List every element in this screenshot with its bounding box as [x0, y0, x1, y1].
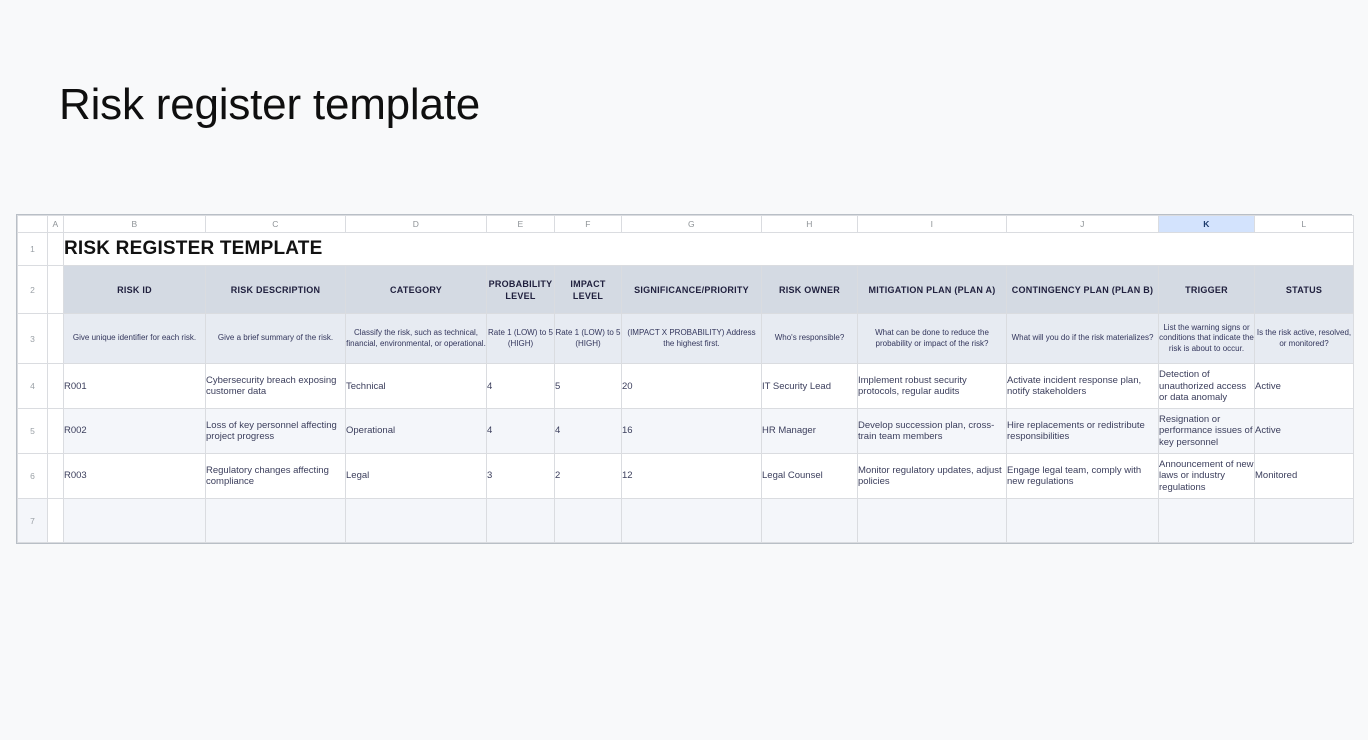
table-row: 5 R002 Loss of key personnel affecting p…	[18, 409, 1354, 454]
banner-title[interactable]: RISK REGISTER TEMPLATE	[64, 232, 1354, 265]
cell-risk-id[interactable]: R003	[64, 454, 206, 499]
cell-status[interactable]: Active	[1255, 409, 1354, 454]
cell-impact-level[interactable]	[555, 499, 622, 543]
spreadsheet-grid[interactable]: A B C D E F G H I J K L 1 RISK REGISTER …	[16, 214, 1352, 544]
table-row: 2 RISK ID RISK DESCRIPTION CATEGORY PROB…	[18, 266, 1354, 314]
cell-risk-owner[interactable]: HR Manager	[762, 409, 858, 454]
cell-a3[interactable]	[48, 314, 64, 364]
header-probability-level[interactable]: PROBABILITY LEVEL	[487, 266, 555, 314]
table-row: 3 Give unique identifier for each risk. …	[18, 314, 1354, 364]
cell-risk-owner[interactable]: IT Security Lead	[762, 364, 858, 409]
row-header-4[interactable]: 4	[18, 364, 48, 409]
instruction-mitigation-plan[interactable]: What can be done to reduce the probabili…	[858, 314, 1007, 364]
cell-contingency-plan[interactable]	[1007, 499, 1159, 543]
cell-risk-owner[interactable]	[762, 499, 858, 543]
column-header-row: A B C D E F G H I J K L	[18, 216, 1354, 233]
row-header-6[interactable]: 6	[18, 454, 48, 499]
cell-mitigation-plan[interactable]: Implement robust security protocols, reg…	[858, 364, 1007, 409]
cell-risk-description[interactable]: Regulatory changes affecting compliance	[206, 454, 346, 499]
instruction-significance-priority[interactable]: (IMPACT X PROBABILITY) Address the highe…	[622, 314, 762, 364]
header-risk-id[interactable]: RISK ID	[64, 266, 206, 314]
table-row: 1 RISK REGISTER TEMPLATE	[18, 232, 1354, 265]
header-risk-description[interactable]: RISK DESCRIPTION	[206, 266, 346, 314]
column-header-j[interactable]: J	[1007, 216, 1159, 233]
cell-risk-id[interactable]: R002	[64, 409, 206, 454]
cell-risk-id[interactable]: R001	[64, 364, 206, 409]
cell-a5[interactable]	[48, 409, 64, 454]
slide-canvas: Risk register template A	[0, 0, 1368, 740]
cell-probability-level[interactable]: 4	[487, 364, 555, 409]
cell-category[interactable]: Technical	[346, 364, 487, 409]
cell-contingency-plan[interactable]: Activate incident response plan, notify …	[1007, 364, 1159, 409]
cell-significance-priority[interactable]: 12	[622, 454, 762, 499]
instruction-category[interactable]: Classify the risk, such as technical, fi…	[346, 314, 487, 364]
header-contingency-plan[interactable]: CONTINGENCY PLAN (PLAN B)	[1007, 266, 1159, 314]
cell-a1[interactable]	[48, 232, 64, 265]
cell-status[interactable]: Monitored	[1255, 454, 1354, 499]
instruction-probability-level[interactable]: Rate 1 (LOW) to 5 (HIGH)	[487, 314, 555, 364]
cell-risk-description[interactable]: Cybersecurity breach exposing customer d…	[206, 364, 346, 409]
cell-risk-owner[interactable]: Legal Counsel	[762, 454, 858, 499]
cell-a7[interactable]	[48, 499, 64, 543]
cell-category[interactable]: Operational	[346, 409, 487, 454]
page-title: Risk register template	[59, 78, 480, 132]
cell-a4[interactable]	[48, 364, 64, 409]
column-header-b[interactable]: B	[64, 216, 206, 233]
instruction-contingency-plan[interactable]: What will you do if the risk materialize…	[1007, 314, 1159, 364]
select-all-corner[interactable]	[18, 216, 48, 233]
cell-significance-priority[interactable]	[622, 499, 762, 543]
cell-category[interactable]	[346, 499, 487, 543]
cell-impact-level[interactable]: 5	[555, 364, 622, 409]
table-row: 4 R001 Cybersecurity breach exposing cus…	[18, 364, 1354, 409]
column-header-f[interactable]: F	[555, 216, 622, 233]
header-status[interactable]: STATUS	[1255, 266, 1354, 314]
cell-mitigation-plan[interactable]: Monitor regulatory updates, adjust polic…	[858, 454, 1007, 499]
cell-mitigation-plan[interactable]: Develop succession plan, cross-train tea…	[858, 409, 1007, 454]
instruction-risk-id[interactable]: Give unique identifier for each risk.	[64, 314, 206, 364]
instruction-trigger[interactable]: List the warning signs or conditions tha…	[1159, 314, 1255, 364]
cell-trigger[interactable]: Announcement of new laws or industry reg…	[1159, 454, 1255, 499]
risk-register-table: A B C D E F G H I J K L 1 RISK REGISTER …	[17, 215, 1354, 543]
cell-trigger[interactable]: Detection of unauthorized access or data…	[1159, 364, 1255, 409]
header-category[interactable]: CATEGORY	[346, 266, 487, 314]
table-row: 6 R003 Regulatory changes affecting comp…	[18, 454, 1354, 499]
cell-contingency-plan[interactable]: Hire replacements or redistribute respon…	[1007, 409, 1159, 454]
row-header-3[interactable]: 3	[18, 314, 48, 364]
cell-significance-priority[interactable]: 20	[622, 364, 762, 409]
cell-trigger[interactable]: Resignation or performance issues of key…	[1159, 409, 1255, 454]
header-impact-level[interactable]: IMPACT LEVEL	[555, 266, 622, 314]
cell-probability-level[interactable]: 3	[487, 454, 555, 499]
row-header-5[interactable]: 5	[18, 409, 48, 454]
cell-risk-description[interactable]: Loss of key personnel affecting project …	[206, 409, 346, 454]
instruction-status[interactable]: Is the risk active, resolved, or monitor…	[1255, 314, 1354, 364]
column-header-c[interactable]: C	[206, 216, 346, 233]
instruction-risk-owner[interactable]: Who's responsible?	[762, 314, 858, 364]
cell-risk-description[interactable]	[206, 499, 346, 543]
column-header-h[interactable]: H	[762, 216, 858, 233]
instruction-risk-description[interactable]: Give a brief summary of the risk.	[206, 314, 346, 364]
cell-status[interactable]: Active	[1255, 364, 1354, 409]
cell-risk-id[interactable]	[64, 499, 206, 543]
column-header-l[interactable]: L	[1255, 216, 1354, 233]
column-header-e[interactable]: E	[487, 216, 555, 233]
table-row: 7	[18, 499, 1354, 543]
column-header-g[interactable]: G	[622, 216, 762, 233]
row-header-7[interactable]: 7	[18, 499, 48, 543]
column-header-d[interactable]: D	[346, 216, 487, 233]
header-trigger[interactable]: TRIGGER	[1159, 266, 1255, 314]
cell-impact-level[interactable]: 4	[555, 409, 622, 454]
cell-probability-level[interactable]: 4	[487, 409, 555, 454]
column-header-k[interactable]: K	[1159, 216, 1255, 233]
header-significance-priority[interactable]: SIGNIFICANCE/PRIORITY	[622, 266, 762, 314]
column-header-a[interactable]: A	[48, 216, 64, 233]
cell-probability-level[interactable]	[487, 499, 555, 543]
row-header-1[interactable]: 1	[18, 232, 48, 265]
cell-significance-priority[interactable]: 16	[622, 409, 762, 454]
header-risk-owner[interactable]: RISK OWNER	[762, 266, 858, 314]
cell-contingency-plan[interactable]: Engage legal team, comply with new regul…	[1007, 454, 1159, 499]
row-header-2[interactable]: 2	[18, 266, 48, 314]
cell-trigger[interactable]	[1159, 499, 1255, 543]
cell-a2[interactable]	[48, 266, 64, 314]
column-header-i[interactable]: I	[858, 216, 1007, 233]
cell-impact-level[interactable]: 2	[555, 454, 622, 499]
instruction-impact-level[interactable]: Rate 1 (LOW) to 5 (HIGH)	[555, 314, 622, 364]
cell-category[interactable]: Legal	[346, 454, 487, 499]
cell-a6[interactable]	[48, 454, 64, 499]
header-mitigation-plan[interactable]: MITIGATION PLAN (PLAN A)	[858, 266, 1007, 314]
cell-mitigation-plan[interactable]	[858, 499, 1007, 543]
cell-status[interactable]	[1255, 499, 1354, 543]
